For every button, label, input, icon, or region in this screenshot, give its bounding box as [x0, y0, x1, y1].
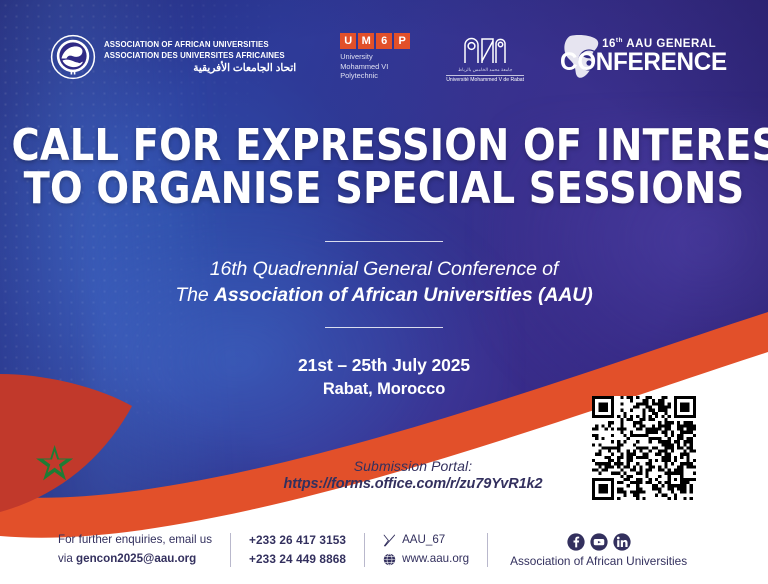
footer-brand: Association of African Universities [510, 533, 687, 568]
social-icons [567, 533, 631, 551]
footer-divider-2 [364, 533, 365, 567]
aau-emblem-icon [50, 34, 96, 80]
linkedin-icon[interactable] [613, 533, 631, 551]
um6p-sub-line3: Polytechnic [340, 71, 410, 81]
um5-monument-icon [462, 31, 508, 65]
conference-main-text: CONFERENCE [560, 48, 727, 77]
enquiries-prefix: via [58, 552, 76, 565]
phone-secondary: +233 24 449 8868 [249, 550, 346, 569]
brand-name: Association of African Universities [510, 554, 687, 568]
aau-logo: ASSOCIATION OF AFRICAN UNIVERSITIES ASSO… [50, 34, 296, 80]
website-url: www.aau.org [402, 550, 469, 569]
footer-enquiries: For further enquiries, email us via genc… [58, 531, 212, 569]
subtitle-line-1: 16th Quadrennial General Conference of [0, 256, 768, 282]
footer-divider-3 [487, 533, 488, 567]
poster-subtitle: 16th Quadrennial General Conference of T… [0, 256, 768, 308]
x-twitter-icon [383, 534, 396, 547]
um6p-tile-6: 6 [376, 33, 392, 49]
headline-line-2: TO ORGANISE SPECIAL SESSIONS [12, 168, 757, 211]
um6p-subtitle: University Mohammed VI Polytechnic [340, 52, 410, 81]
aau-name-ar: اتحاد الجامعات الأفريقية [104, 62, 296, 75]
aau-wordmark: ASSOCIATION OF AFRICAN UNIVERSITIES ASSO… [104, 39, 296, 75]
portal-label: Submission Portal: [248, 458, 578, 474]
enquiries-line-1: For further enquiries, email us [58, 531, 212, 550]
subtitle-line-2: The Association of African Universities … [0, 282, 768, 308]
divider-bottom [0, 327, 768, 328]
conference-edition-ordinal: th [616, 37, 623, 44]
poster-canvas: ASSOCIATION OF AFRICAN UNIVERSITIES ASSO… [0, 0, 768, 584]
footer-handles: AAU_67 www.aau.org [383, 531, 469, 569]
um6p-tile-m: M [358, 33, 374, 49]
youtube-icon[interactable] [590, 533, 608, 551]
footer-bar: For further enquiries, email us via genc… [0, 516, 768, 584]
um6p-tiles: U M 6 P [340, 33, 410, 49]
enquiries-email[interactable]: gencon2025@aau.org [76, 552, 196, 565]
um6p-sub-line2: Mohammed VI [340, 62, 410, 72]
conference-logo: 16th AAU GENERAL CONFERENCE [558, 33, 718, 81]
twitter-row[interactable]: AAU_67 [383, 531, 469, 550]
um5-rabat-logo: جامعة محمد الخامس بالرباط Université Moh… [446, 31, 524, 83]
footer-divider-1 [230, 533, 231, 567]
footer-phones: +233 26 417 3153 +233 24 449 8868 [249, 531, 346, 569]
um6p-tile-u: U [340, 33, 356, 49]
poster-headline: CALL FOR EXPRESSION OF INTEREST TO ORGAN… [0, 125, 768, 210]
qr-code[interactable] [592, 396, 696, 500]
phone-primary: +233 26 417 3153 [249, 531, 346, 550]
um5-name-ar: جامعة محمد الخامس بالرباط [458, 67, 513, 73]
logo-bar: ASSOCIATION OF AFRICAN UNIVERSITIES ASSO… [0, 26, 768, 88]
event-date: 21st – 25th July 2025 [0, 353, 768, 378]
subtitle-org-name: Association of African Universities (AAU… [214, 284, 593, 306]
divider-top [0, 241, 768, 242]
aau-name-fr: ASSOCIATION DES UNIVERSITES AFRICAINES [104, 50, 285, 60]
website-row[interactable]: www.aau.org [383, 550, 469, 569]
twitter-handle: AAU_67 [402, 531, 445, 550]
subtitle-prefix: The [175, 284, 214, 306]
event-details: 21st – 25th July 2025 Rabat, Morocco [0, 353, 768, 401]
um5-name-fr: Université Mohammed V de Rabat [446, 75, 524, 83]
facebook-icon[interactable] [567, 533, 585, 551]
globe-icon [383, 553, 396, 566]
um6p-tile-p: P [394, 33, 410, 49]
headline-line-1: CALL FOR EXPRESSION OF INTEREST [12, 125, 757, 168]
um6p-sub-line1: University [340, 52, 410, 62]
enquiries-line-2: via gencon2025@aau.org [58, 550, 212, 569]
submission-portal: Submission Portal: https://forms.office.… [248, 458, 578, 492]
um6p-logo: U M 6 P University Mohammed VI Polytechn… [340, 33, 410, 81]
portal-url[interactable]: https://forms.office.com/r/zu79YvR1k2 [248, 476, 578, 492]
aau-name-en: ASSOCIATION OF AFRICAN UNIVERSITIES [104, 39, 285, 49]
